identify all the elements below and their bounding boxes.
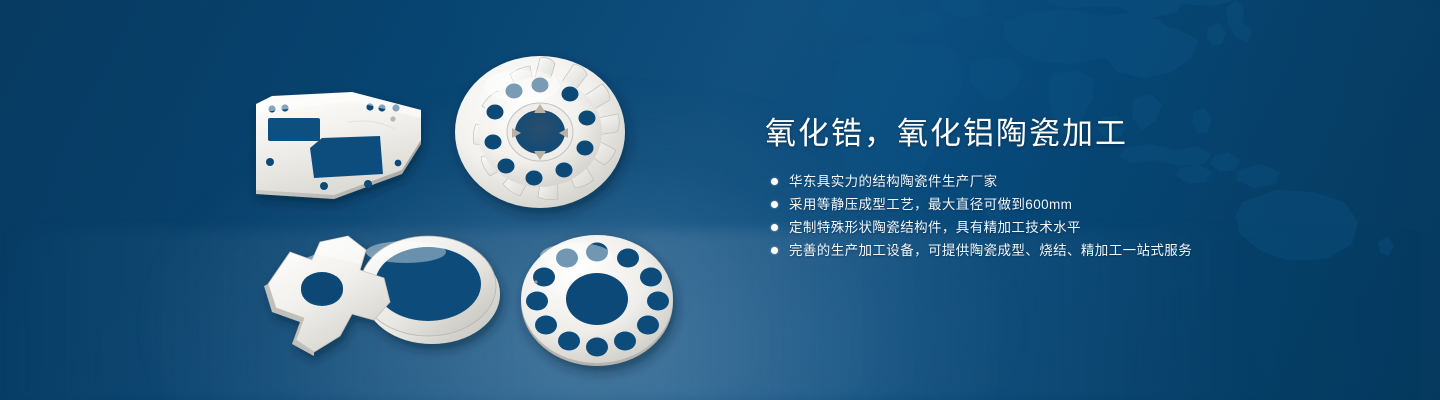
banner-copy-block: 氧化锆，氧化铝陶瓷加工 华东具实力的结构陶瓷件生产厂家 采用等静压成型工艺，最大… [765,112,1385,262]
feature-text: 华东具实力的结构陶瓷件生产厂家 [789,170,998,193]
feature-list-item: 定制特殊形状陶瓷结构件，具有精加工技术水平 [771,216,1385,239]
bullet-dot-icon [771,224,778,231]
feature-list-item: 采用等静压成型工艺，最大直径可做到600mm [771,193,1385,216]
bullet-dot-icon [771,178,778,185]
feature-list-item: 完善的生产加工设备，可提供陶瓷成型、烧结、精加工一站式服务 [771,239,1385,262]
feature-text: 定制特殊形状陶瓷结构件，具有精加工技术水平 [789,216,1081,239]
feature-list: 华东具实力的结构陶瓷件生产厂家 采用等静压成型工艺，最大直径可做到600mm 定… [765,170,1385,262]
banner-headline: 氧化锆，氧化铝陶瓷加工 [765,112,1385,156]
promo-banner: 氧化锆，氧化铝陶瓷加工 华东具实力的结构陶瓷件生产厂家 采用等静压成型工艺，最大… [0,0,1440,400]
feature-list-item: 华东具实力的结构陶瓷件生产厂家 [771,170,1385,193]
feature-text: 采用等静压成型工艺，最大直径可做到600mm [789,193,1072,216]
bullet-dot-icon [771,247,778,254]
feature-text: 完善的生产加工设备，可提供陶瓷成型、烧结、精加工一站式服务 [789,239,1192,262]
bullet-dot-icon [771,201,778,208]
